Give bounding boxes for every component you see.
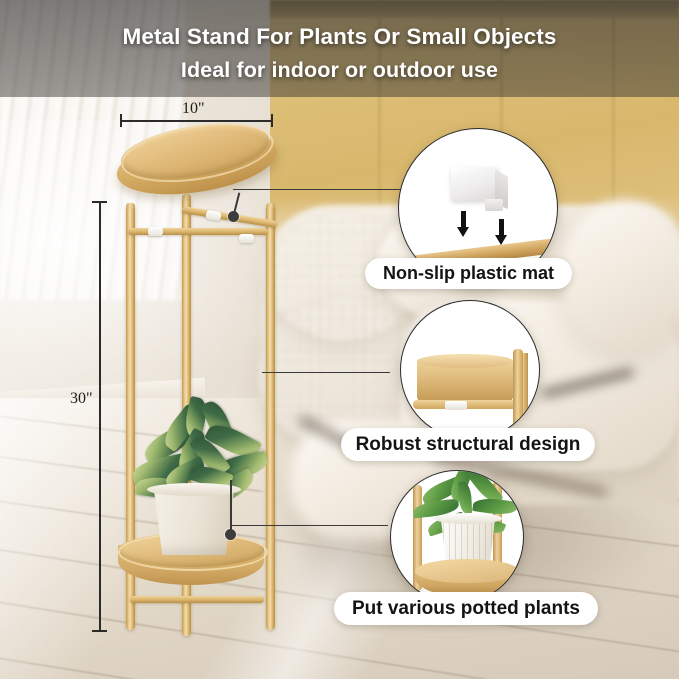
width-dimension-line <box>120 120 272 122</box>
room-scene <box>0 0 679 679</box>
plastic-mat-detail <box>451 167 499 201</box>
height-dimension-cap-bottom <box>92 630 107 632</box>
lower-crossbar <box>130 596 264 603</box>
vertical-post-detail <box>513 349 523 440</box>
leader-line <box>262 372 390 373</box>
width-dimension-cap-right <box>271 114 273 127</box>
sofa-cushion <box>560 200 679 350</box>
plastic-connector-sleeve <box>239 234 254 243</box>
headline-primary: Metal Stand For Plants Or Small Objects <box>0 24 679 50</box>
plastic-connector-sleeve <box>148 227 163 236</box>
caption-non-slip-mat: Non-slip plastic mat <box>365 258 572 289</box>
down-arrow-icon <box>499 219 504 237</box>
leg-cap <box>266 203 275 208</box>
pot-rim <box>147 483 241 496</box>
height-dimension-line <box>99 201 101 631</box>
callout-circle-potted-plants <box>390 470 524 604</box>
fern-frond <box>458 481 472 513</box>
width-dimension-cap-left <box>120 114 122 127</box>
stand-leg-rear-right <box>266 205 275 630</box>
vertical-post-edge <box>523 353 528 440</box>
width-dimension-label: 10" <box>182 100 205 118</box>
down-arrow-icon <box>461 211 466 229</box>
leader-line <box>230 525 388 526</box>
shelf-top-detail <box>417 354 513 368</box>
infographic-canvas: 10" 30" Non-slip plastic mat <box>0 0 679 679</box>
tray-surface-detail <box>415 559 519 583</box>
plastic-mat-foot <box>485 199 503 211</box>
plastic-sleeve-detail <box>445 401 467 410</box>
caption-structural-design: Robust structural design <box>341 428 595 461</box>
height-dimension-label: 30" <box>70 390 93 408</box>
height-dimension-cap-top <box>92 201 107 203</box>
plant-pot <box>150 487 238 555</box>
callout-circle-structural-design <box>400 300 540 440</box>
pot-rim-detail <box>434 513 502 524</box>
caption-potted-plants: Put various potted plants <box>334 592 598 625</box>
headline-secondary: Ideal for indoor or outdoor use <box>0 58 679 83</box>
